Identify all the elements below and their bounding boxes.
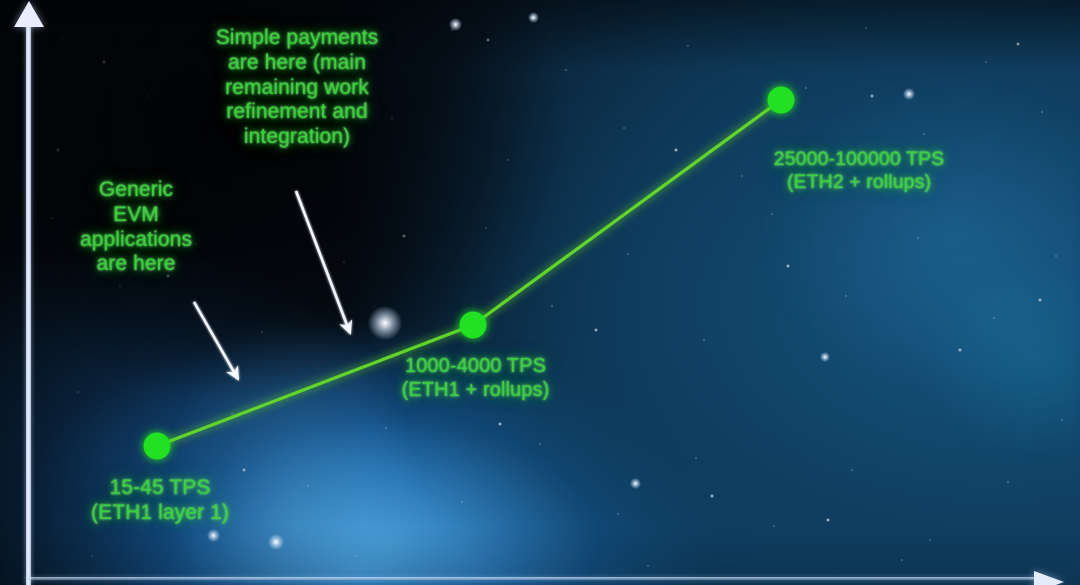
data-point-1[interactable] xyxy=(144,433,171,460)
chart-canvas: Simple payments are here (main remaining… xyxy=(0,0,1080,585)
annotation-arrow-evm xyxy=(194,302,238,379)
annotation-arrow-payments xyxy=(296,191,350,333)
data-point-label-eth1-layer1: 15-45 TPS (ETH1 layer 1) xyxy=(55,476,265,526)
annotation-label-simple-payments: Simple payments are here (main remaining… xyxy=(183,26,411,150)
data-point-3[interactable] xyxy=(768,87,795,114)
annotation-label-generic-evm: Generic EVM applications are here xyxy=(52,178,220,277)
data-point-2[interactable] xyxy=(460,312,487,339)
data-point-label-eth1-rollups: 1000-4000 TPS (ETH1 + rollups) xyxy=(378,355,573,402)
data-point-label-eth2-rollups: 25000-100000 TPS (ETH2 + rollups) xyxy=(746,148,972,194)
